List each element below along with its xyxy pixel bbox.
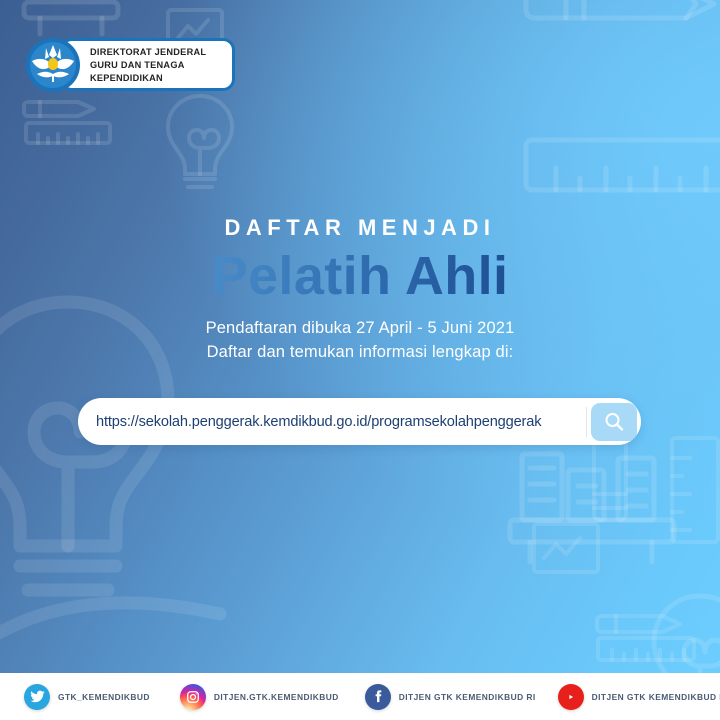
ruler-icon <box>594 630 706 670</box>
ruler-icon <box>660 432 720 552</box>
instagram-icon <box>180 684 206 710</box>
pencil-icon <box>22 92 106 126</box>
logo-line-2: GURU DAN TENAGA <box>90 59 230 72</box>
tut-wuri-handayani-emblem <box>22 36 84 94</box>
subline-text: Pendaftaran dibuka 27 April - 5 Juni 202… <box>0 317 720 364</box>
subline-line-2: Daftar dan temukan informasi lengkap di: <box>0 341 720 364</box>
url-input[interactable] <box>78 414 586 430</box>
search-button[interactable] <box>591 403 637 441</box>
page-title: Pelatih Ahli <box>0 247 720 305</box>
headline-block: DAFTAR MENJADI Pelatih Ahli Pendaftaran … <box>0 215 720 364</box>
social-twitter[interactable]: GTK_KEMENDIKBUD <box>24 684 150 710</box>
pencil-icon <box>520 0 720 48</box>
pencil-icon <box>594 604 690 644</box>
social-facebook[interactable]: DITJEN GTK KEMENDIKBUD RI <box>365 684 536 710</box>
logo-line-1: DIREKTORAT JENDERAL <box>90 46 230 59</box>
youtube-icon <box>558 684 584 710</box>
url-divider <box>586 407 587 437</box>
lightbulb-icon <box>160 88 240 193</box>
social-handle: DITJEN GTK KEMENDIKBUD RI <box>399 692 536 702</box>
social-instagram[interactable]: DITJEN.GTK.KEMENDIKBUD <box>180 684 339 710</box>
footer-social-bar: GTK_KEMENDIKBUD DITJEN.GTK.KEMENDIKBUD D… <box>0 673 720 720</box>
social-handle: DITJEN GTK KEMENDIKBUD RI <box>592 692 720 702</box>
subline-line-1: Pendaftaran dibuka 27 April - 5 Juni 202… <box>0 317 720 340</box>
ruler-icon <box>22 115 118 151</box>
url-bar[interactable] <box>78 398 641 445</box>
books-icon <box>492 444 720 644</box>
logo-line-3: KEPENDIDIKAN <box>90 72 230 85</box>
social-handle: GTK_KEMENDIKBUD <box>58 692 150 702</box>
logo-text: DIREKTORAT JENDERAL GURU DAN TENAGA KEPE… <box>90 46 230 85</box>
social-handle: DITJEN.GTK.KEMENDIKBUD <box>214 692 339 702</box>
poster-canvas: DIREKTORAT JENDERAL GURU DAN TENAGA KEPE… <box>0 0 720 720</box>
social-youtube[interactable]: DITJEN GTK KEMENDIKBUD RI <box>558 684 720 710</box>
ruler-icon <box>520 130 720 210</box>
eyebrow-text: DAFTAR MENJADI <box>0 215 720 241</box>
twitter-icon <box>24 684 50 710</box>
search-icon <box>603 411 625 433</box>
chart-icon <box>528 518 608 588</box>
facebook-icon <box>365 684 391 710</box>
